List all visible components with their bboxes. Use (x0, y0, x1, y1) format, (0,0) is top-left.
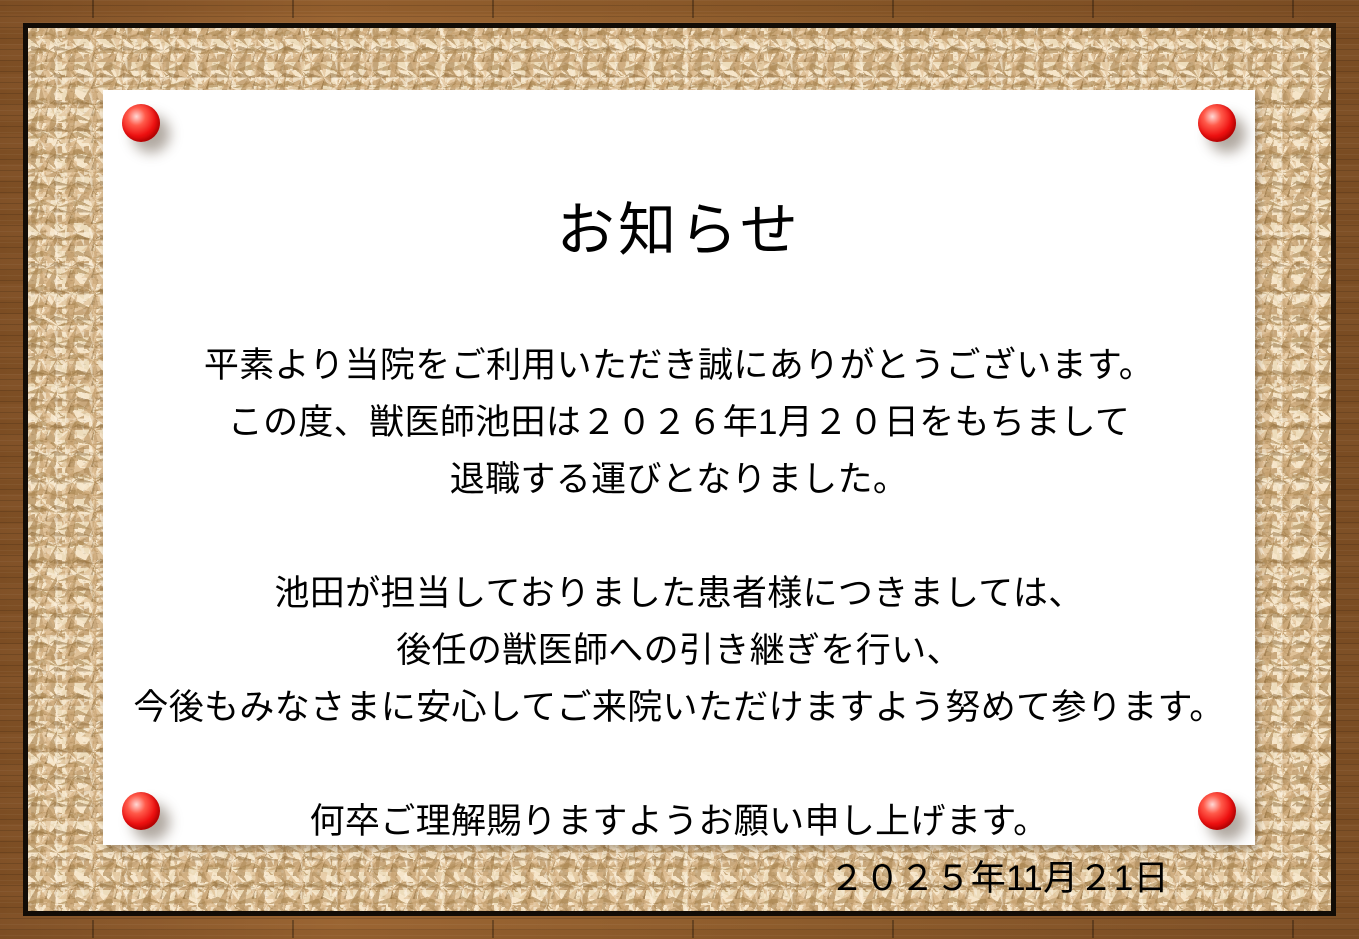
notice-line: 今後もみなさまに安心してご来院いただけますよう努めて参ります。 (121, 679, 1237, 736)
pushpin-icon[interactable] (1198, 104, 1236, 142)
pushpin-icon[interactable] (122, 792, 160, 830)
cork-board-scene: お知らせ 平素より当院をご利用いただき誠にありがとうございます。 この度、獣医師… (0, 0, 1359, 939)
notice-line: 後任の獣医師への引き継ぎを行い、 (121, 622, 1237, 679)
pushpin-icon[interactable] (1198, 792, 1236, 830)
notice-date: ２０２５年11月２1日 (121, 850, 1237, 907)
notice-line: 平素より当院をご利用いただき誠にありがとうございます。 (121, 337, 1237, 394)
notice-line: 池田が担当しておりました患者様につきましては、 (121, 565, 1237, 622)
notice-title: お知らせ (103, 200, 1255, 262)
notice-line: 何卒ご理解賜りますようお願い申し上げます。 (121, 793, 1237, 850)
notice-text-block: お知らせ 平素より当院をご利用いただき誠にありがとうございます。 この度、獣医師… (103, 90, 1255, 845)
notice-body: 平素より当院をご利用いただき誠にありがとうございます。 この度、獣医師池田は２０… (121, 337, 1237, 907)
notice-line: 退職する運びとなりました。 (121, 451, 1237, 508)
notice-line: この度、獣医師池田は２０２６年1月２０日をもちまして (121, 394, 1237, 451)
notice-line-spacer (121, 508, 1237, 565)
pushpin-icon[interactable] (122, 104, 160, 142)
notice-paper: お知らせ 平素より当院をご利用いただき誠にありがとうございます。 この度、獣医師… (103, 90, 1255, 845)
notice-line-spacer (121, 736, 1237, 793)
